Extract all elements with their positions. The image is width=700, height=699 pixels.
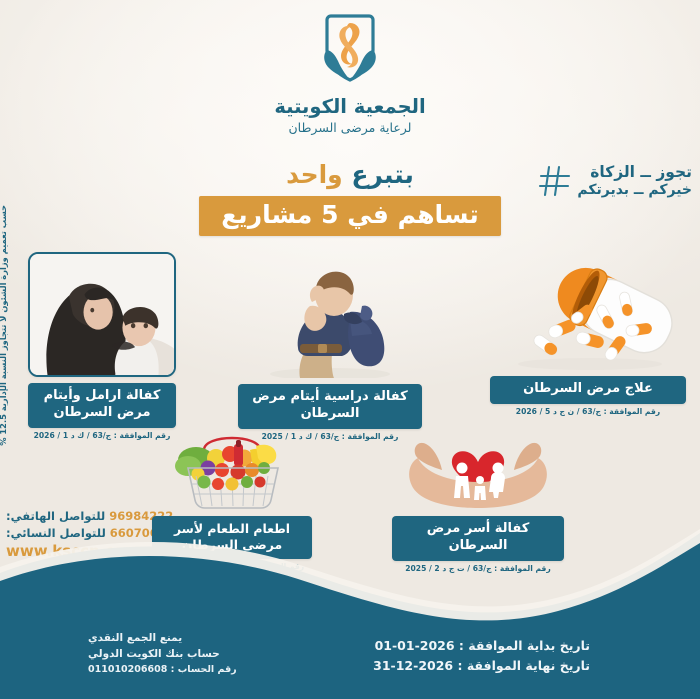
zakat-badge: تجوز ــ الزكاة خيركم ــ بديرتكم	[538, 163, 692, 200]
mother-hugging-daughter-photo	[28, 252, 176, 377]
zakat-badge-text: تجوز ــ الزكاة خيركم ــ بديرتكم	[577, 163, 692, 200]
approval-dates-block: تاريخ بداية الموافقة : 2026-01-01 تاريخ …	[373, 636, 590, 675]
schoolboy-with-backpack-photo	[238, 248, 422, 378]
phone-contact-row: 96984222 للتواصل الهاتفي:	[6, 508, 174, 525]
headline-word-donate: بتبرع	[351, 160, 413, 189]
pill-bottle-with-capsules-photo	[490, 258, 686, 370]
hashtag-icon	[538, 164, 572, 198]
project-card-cancer-treatment[interactable]: علاج مرض السرطان رقم الموافقة : ج/63 / ن…	[490, 258, 686, 416]
ribbon-shield-hands-icon	[307, 10, 393, 92]
no-cash-collection-note: يمنع الجمع النقدي	[88, 631, 237, 647]
grocery-basket-with-produce-photo	[152, 432, 312, 510]
organization-name: الجمعية الكويتية	[0, 96, 700, 118]
project-label: كفالة ارامل وأيتام مرض السرطان	[28, 383, 176, 428]
project-label: علاج مرض السرطان	[490, 376, 686, 404]
administrative-ratio-note: حسب تعميم وزارة الشئون لا تتجاوز النسبة …	[0, 205, 8, 535]
poster-canvas: الجمعية الكويتية لرعاية مرضى السرطان بتب…	[0, 0, 700, 699]
zakat-line-1: تجوز ــ الزكاة	[577, 163, 692, 182]
hands-holding-heart-family-photo	[392, 428, 564, 510]
bank-account-number: رقم الحساب : 011010206608	[88, 663, 237, 677]
zakat-line-2: خيركم ــ بديرتكم	[577, 182, 692, 200]
project-card-widows-orphans[interactable]: كفالة ارامل وأيتام مرض السرطان رقم الموا…	[28, 252, 176, 440]
bank-name: حساب بنك الكويت الدولي	[88, 647, 237, 663]
project-approval-number: رقم الموافقة : ج/63 / ن ج د 5 / 2026	[490, 407, 686, 416]
organization-subtitle: لرعاية مرضى السرطان	[0, 120, 700, 135]
approval-start-date: تاريخ بداية الموافقة : 2026-01-01	[373, 636, 590, 655]
headline-banner: تساهم في 5 مشاريع	[199, 196, 501, 236]
phone-label: للتواصل الهاتفي:	[6, 509, 105, 523]
approval-end-date: تاريخ نهاية الموافقة : 2026-12-31	[373, 656, 590, 675]
organization-logo-block: الجمعية الكويتية لرعاية مرضى السرطان	[0, 10, 700, 135]
headline-word-one: واحد	[286, 160, 343, 189]
project-label: كفالة دراسية أيتام مرض السرطان	[238, 384, 422, 429]
project-card-school-sponsorship[interactable]: كفالة دراسية أيتام مرض السرطان رقم الموا…	[238, 248, 422, 441]
bank-details-block: يمنع الجمع النقدي حساب بنك الكويت الدولي…	[88, 631, 237, 677]
